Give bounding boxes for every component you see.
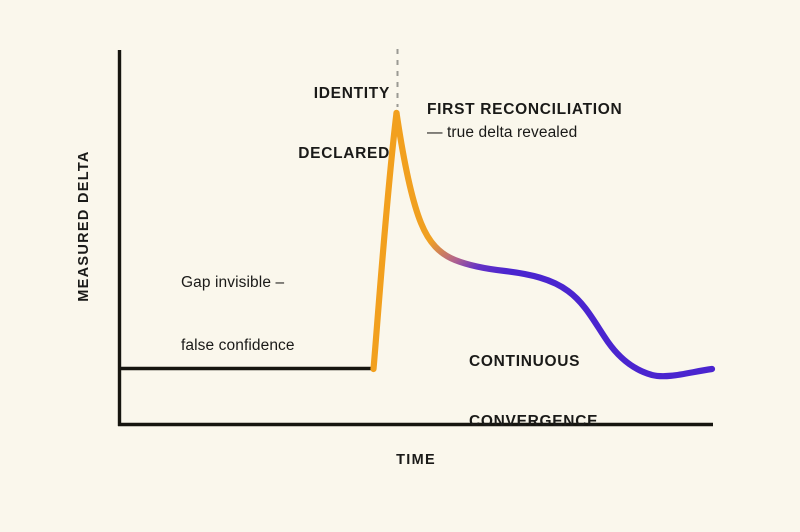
gap-invisible-line-2: false confidence (181, 335, 295, 356)
identity-declared-line-1: IDENTITY (298, 84, 390, 104)
annotation-gap-invisible: Gap invisible – false confidence (181, 230, 295, 398)
annotation-first-reconciliation-subtitle: — true delta revealed (427, 122, 577, 143)
gap-invisible-line-1: Gap invisible – (181, 272, 295, 293)
x-axis-title: TIME (336, 452, 496, 468)
annotation-identity-declared: IDENTITY DECLARED (298, 44, 390, 204)
annotation-first-reconciliation-title: FIRST RECONCILIATION (427, 100, 622, 120)
chart-canvas: IDENTITY DECLARED FIRST RECONCILIATION —… (0, 0, 800, 532)
identity-declared-line-2: DECLARED (298, 144, 390, 164)
y-axis-title: MEASURED DELTA (76, 136, 92, 316)
continuous-convergence-line-1: CONTINUOUS (469, 352, 598, 372)
annotation-continuous-convergence: CONTINUOUS CONVERGENCE (469, 312, 598, 472)
continuous-convergence-line-2: CONVERGENCE (469, 412, 598, 432)
